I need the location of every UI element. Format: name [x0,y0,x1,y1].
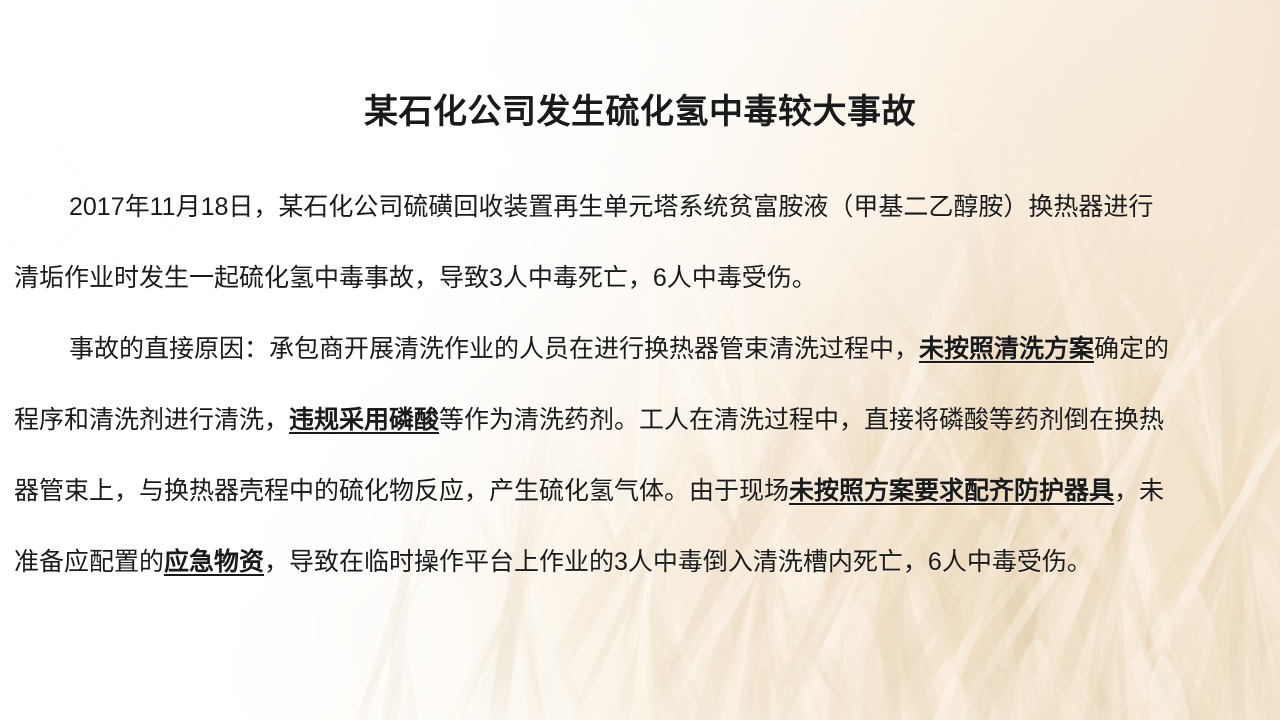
paragraph-direct-cause: 事故的直接原因：承包商开展清洗作业的人员在进行换热器管束清洗过程中，未按照清洗方… [14,314,1266,598]
text-line-p2-l2: 程序和清洗剂进行清洗，违规采用磷酸等作为清洗药剂。工人在清洗过程中，直接将磷酸等… [14,385,1266,456]
body-text: ，未 [1114,477,1164,505]
slide-body: 2017年11月18日，某石化公司硫磺回收装置再生单元塔系统贫富胺液（甲基二乙醇… [14,172,1266,598]
presentation-slide: 某石化公司发生硫化氢中毒较大事故 2017年11月18日，某石化公司硫磺回收装置… [0,0,1280,720]
text-line-p2-l1: 事故的直接原因：承包商开展清洗作业的人员在进行换热器管束清洗过程中，未按照清洗方… [14,314,1266,385]
text-line-p2-l4: 准备应配置的应急物资，导致在临时操作平台上作业的3人中毒倒入清洗槽内死亡，6人中… [14,527,1266,598]
emphasized-text: 未按照方案要求配齐防护器具 [789,477,1114,505]
body-text: 确定的 [1094,335,1169,363]
text-line-p1-l2: 清垢作业时发生一起硫化氢中毒事故，导致3人中毒死亡，6人中毒受伤。 [14,243,1266,314]
body-text: 程序和清洗剂进行清洗， [14,406,289,434]
text-line-p1-l1: 2017年11月18日，某石化公司硫磺回收装置再生单元塔系统贫富胺液（甲基二乙醇… [14,172,1266,243]
body-text: 清垢作业时发生一起硫化氢中毒事故，导致3人中毒死亡，6人中毒受伤。 [14,264,817,292]
body-text: 事故的直接原因：承包商开展清洗作业的人员在进行换热器管束清洗过程中， [69,335,919,363]
body-text: 等作为清洗药剂。工人在清洗过程中，直接将磷酸等药剂倒在换热 [439,406,1164,434]
slide-title: 某石化公司发生硫化氢中毒较大事故 [0,92,1280,133]
text-line-p2-l3: 器管束上，与换热器壳程中的硫化物反应，产生硫化氢气体。由于现场未按照方案要求配齐… [14,456,1266,527]
emphasized-text: 未按照清洗方案 [919,335,1094,363]
body-text: 准备应配置的 [14,548,164,576]
body-text: ，导致在临时操作平台上作业的3人中毒倒入清洗槽内死亡，6人中毒受伤。 [264,548,1092,576]
emphasized-text: 应急物资 [164,548,264,576]
body-text: 器管束上，与换热器壳程中的硫化物反应，产生硫化氢气体。由于现场 [14,477,789,505]
paragraph-incident-summary: 2017年11月18日，某石化公司硫磺回收装置再生单元塔系统贫富胺液（甲基二乙醇… [14,172,1266,314]
body-text: 2017年11月18日，某石化公司硫磺回收装置再生单元塔系统贫富胺液（甲基二乙醇… [69,193,1153,221]
slide-content: 某石化公司发生硫化氢中毒较大事故 2017年11月18日，某石化公司硫磺回收装置… [0,0,1280,720]
emphasized-text: 违规采用磷酸 [289,406,439,434]
